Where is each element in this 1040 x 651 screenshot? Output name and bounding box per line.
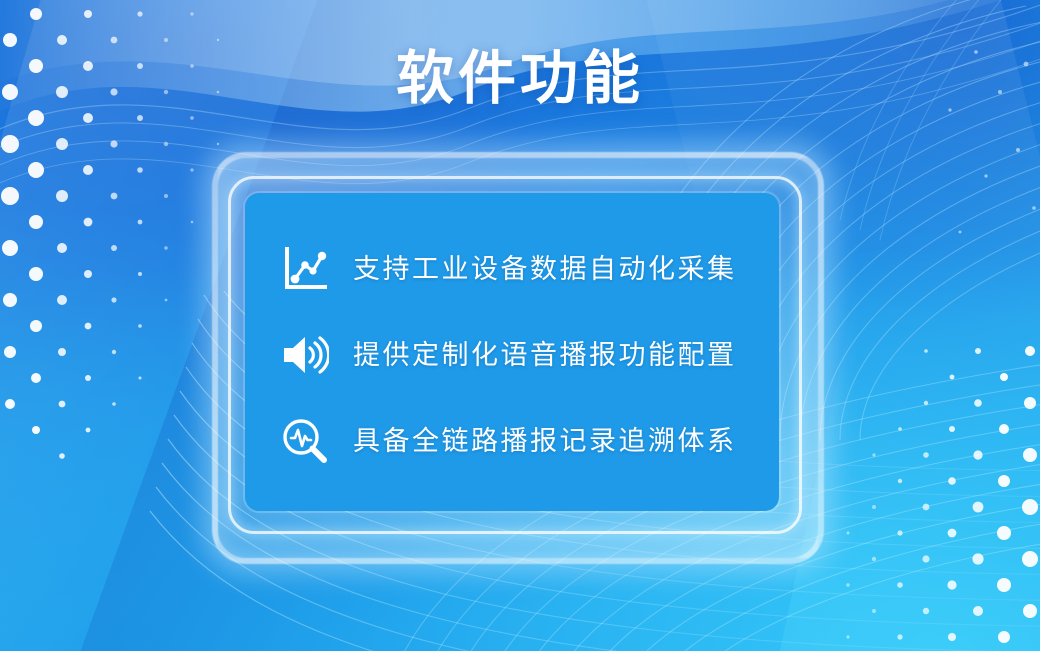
list-item[interactable]: 具备全链路播报记录追溯体系 [245, 415, 779, 467]
magnifier-pulse-icon [279, 415, 331, 467]
slide-canvas: 软件功能 支持工业设备数据自动化采集 [0, 0, 1040, 651]
feature-list: 支持工业设备数据自动化采集 提供定制化语音播报功能配置 [245, 237, 779, 467]
feature-card: 支持工业设备数据自动化采集 提供定制化语音播报功能配置 [245, 193, 779, 511]
list-item[interactable]: 提供定制化语音播报功能配置 [245, 329, 779, 381]
list-item-label: 提供定制化语音播报功能配置 [353, 342, 737, 369]
list-item[interactable]: 支持工业设备数据自动化采集 [245, 243, 779, 295]
list-item-label: 支持工业设备数据自动化采集 [353, 256, 737, 283]
page-title: 软件功能 [0, 46, 1040, 113]
speaker-volume-icon [279, 329, 331, 381]
list-item-label: 具备全链路播报记录追溯体系 [353, 428, 737, 455]
line-chart-icon [279, 243, 331, 295]
